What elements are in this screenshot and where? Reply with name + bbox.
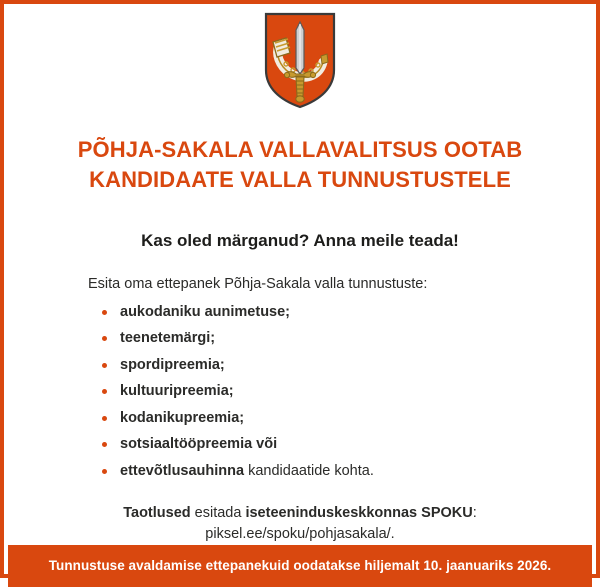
bullet-dot-icon bbox=[102, 416, 107, 421]
poster-page: PÕHJA-SAKALA VALLAVALITSUS OOTAB KANDIDA… bbox=[0, 0, 600, 578]
award-name: kodanikupreemia; bbox=[120, 410, 244, 426]
apply-instructions: Taotlused esitada iseteeninduskeskkonnas… bbox=[40, 503, 560, 545]
bullet-dot-icon bbox=[102, 310, 107, 315]
bullet-dot-icon bbox=[102, 442, 107, 447]
list-item: ettevõtlusauhinna kandidaatide kohta. bbox=[102, 462, 560, 481]
deadline-footer-bar: Tunnustuse avaldamise ettepanekuid oodat… bbox=[8, 545, 592, 587]
page-title-line-2: KANDIDAATE VALLA TUNNUSTUSTELE bbox=[40, 165, 560, 195]
list-item: spordipreemia; bbox=[102, 356, 560, 375]
apply-colon: : bbox=[473, 505, 477, 521]
apply-line-1: Taotlused esitada iseteeninduskeskkonnas… bbox=[40, 503, 560, 524]
award-name: kultuuripreemia; bbox=[120, 383, 234, 399]
apply-channel: iseteeninduskeskkonnas SPOKU bbox=[245, 505, 472, 521]
list-item: teenetemärgi; bbox=[102, 329, 560, 348]
intro-text: Esita oma ettepanek Põhja-Sakala valla t… bbox=[88, 275, 560, 293]
award-name: teenetemärgi; bbox=[120, 330, 215, 346]
page-title-line-1: PÕHJA-SAKALA VALLAVALITSUS OOTAB bbox=[40, 135, 560, 165]
bullet-dot-icon bbox=[102, 363, 107, 368]
award-name: sotsiaaltööpreemia või bbox=[120, 436, 277, 452]
list-item: kultuuripreemia; bbox=[102, 382, 560, 401]
apply-url[interactable]: piksel.ee/spoku/pohjasakala/. bbox=[40, 524, 560, 545]
list-item: aukodaniku aunimetuse; bbox=[102, 303, 560, 322]
award-name: aukodaniku aunimetuse; bbox=[120, 304, 290, 320]
list-item: kodanikupreemia; bbox=[102, 409, 560, 428]
page-title: PÕHJA-SAKALA VALLAVALITSUS OOTAB KANDIDA… bbox=[40, 135, 560, 195]
bullet-dot-icon bbox=[102, 469, 107, 474]
awards-list: aukodaniku aunimetuse; teenetemärgi; spo… bbox=[88, 303, 560, 481]
awards-section: Esita oma ettepanek Põhja-Sakala valla t… bbox=[40, 275, 560, 489]
award-suffix: kandidaatide kohta. bbox=[244, 463, 374, 479]
list-item: sotsiaaltööpreemia või bbox=[102, 435, 560, 454]
award-name: ettevõtlusauhinna bbox=[120, 463, 244, 479]
page-subtitle: Kas oled märganud? Anna meile teada! bbox=[30, 231, 570, 251]
coat-of-arms-crest bbox=[264, 12, 336, 109]
apply-mid: esitada bbox=[191, 505, 246, 521]
bullet-dot-icon bbox=[102, 389, 107, 394]
apply-lead: Taotlused bbox=[123, 505, 190, 521]
bullet-dot-icon bbox=[102, 336, 107, 341]
award-name: spordipreemia; bbox=[120, 357, 225, 373]
